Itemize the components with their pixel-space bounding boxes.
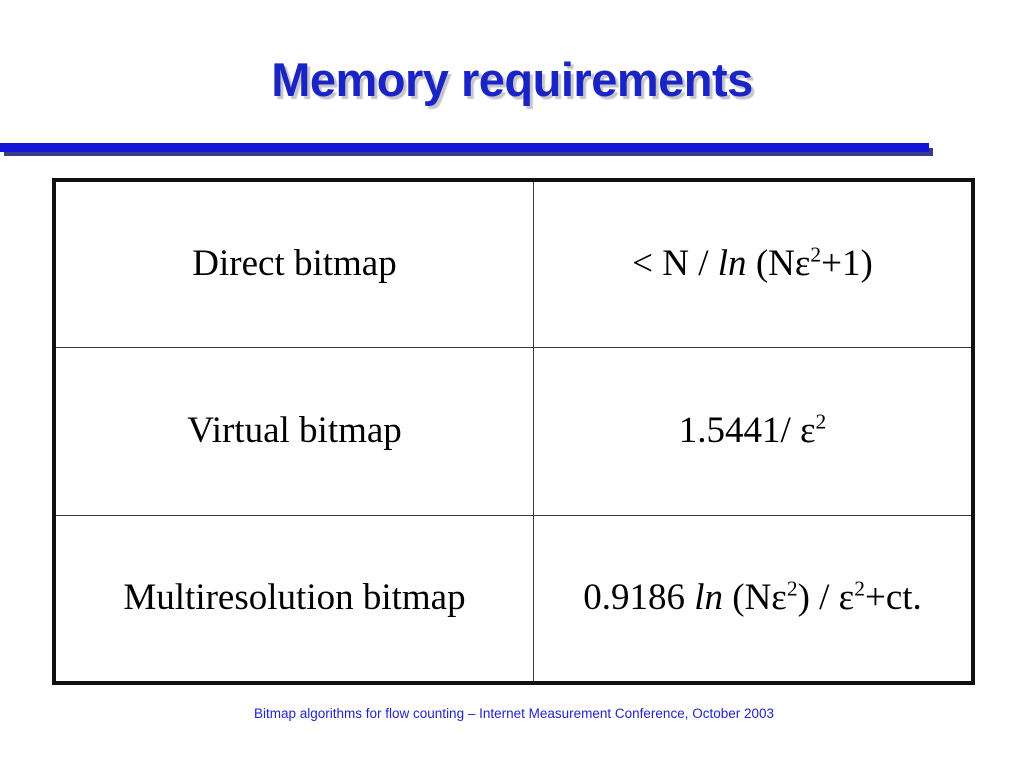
slide-footer: Bitmap algorithms for flow counting – In… (119, 706, 909, 721)
table-row: Multiresolution bitmap 0.9186 ln (Nε2) /… (56, 515, 971, 681)
table-row: Virtual bitmap 1.5441/ ε2 (56, 348, 971, 516)
title-underline-rule (0, 143, 936, 159)
formula-multiresolution-bitmap: 0.9186 ln (Nε2) / ε2+ct. (583, 577, 922, 618)
cell-formula: < N / ln (Nε2+1) (534, 182, 972, 348)
cell-method: Multiresolution bitmap (56, 515, 534, 681)
page-title: Memory requirements (0, 52, 1024, 107)
formula-direct-bitmap: < N / ln (Nε2+1) (632, 243, 873, 284)
formula-virtual-bitmap: 1.5441/ ε2 (679, 410, 827, 451)
memory-requirements-table: Direct bitmap < N / ln (Nε2+1) Virtual b… (52, 178, 975, 685)
cell-method: Virtual bitmap (56, 348, 534, 516)
table-body: Direct bitmap < N / ln (Nε2+1) Virtual b… (56, 182, 971, 681)
title-underline-rule-bar (0, 143, 929, 152)
cell-method: Direct bitmap (56, 182, 534, 348)
cell-formula: 1.5441/ ε2 (534, 348, 972, 516)
table-row: Direct bitmap < N / ln (Nε2+1) (56, 182, 971, 348)
cell-formula: 0.9186 ln (Nε2) / ε2+ct. (534, 515, 972, 681)
